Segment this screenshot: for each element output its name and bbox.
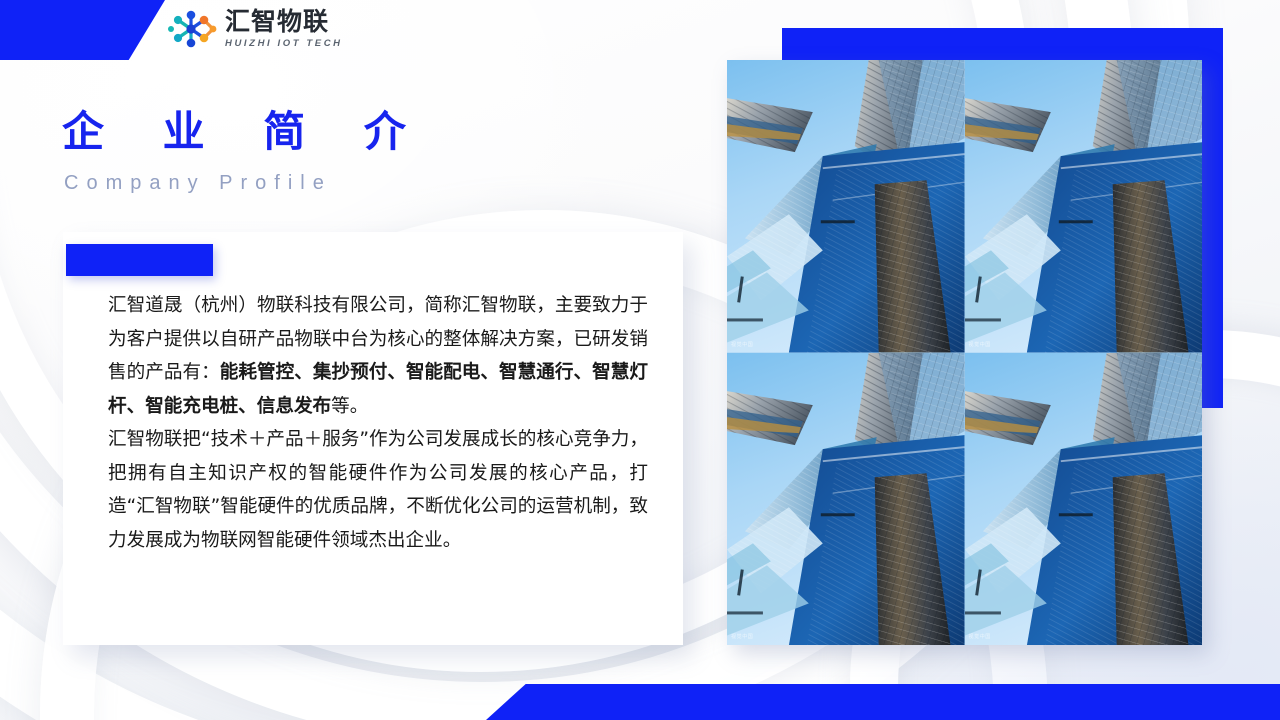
photo-watermark: 视觉中国 xyxy=(731,633,753,640)
molecule-network-icon xyxy=(166,8,218,50)
page-title-cn: 企 业 简 介 xyxy=(62,98,428,159)
photo-tile: 视觉中国 xyxy=(965,60,1203,353)
photo-watermark: 视觉中国 xyxy=(969,341,991,348)
profile-text: 汇智道晟（杭州）物联科技有限公司，简称汇智物联，主要致力于为客户提供以自研产品物… xyxy=(108,289,648,557)
photo-tile: 视觉中国 xyxy=(727,353,965,646)
profile-paragraph: 汇智物联把“技术＋产品＋服务”作为公司发展成长的核心竞争力，把拥有自主知识产权的… xyxy=(108,423,648,557)
photo-watermark: 视觉中国 xyxy=(969,633,991,640)
company-logo: 汇智物联 HUIZHI IOT TECH xyxy=(166,8,343,50)
profile-text-run: 汇智物联把“技术＋产品＋服务”作为公司发展成长的核心竞争力，把拥有自主知识产权的… xyxy=(108,429,648,551)
profile-text-run: 等。 xyxy=(331,396,368,417)
photo-watermark: 视觉中国 xyxy=(731,341,753,348)
card-accent-tab xyxy=(66,244,213,276)
page-title-en: Company Profile xyxy=(64,172,332,195)
bottom-blue-shape xyxy=(486,684,1280,720)
photo-tile: 视觉中国 xyxy=(727,60,965,353)
photo-collage: 视觉中国 xyxy=(727,60,1202,645)
logo-name-en: HUIZHI IOT TECH xyxy=(225,39,343,49)
logo-name-cn: 汇智物联 xyxy=(225,9,343,34)
photo-tile: 视觉中国 xyxy=(965,353,1203,646)
profile-paragraph: 汇智道晟（杭州）物联科技有限公司，简称汇智物联，主要致力于为客户提供以自研产品物… xyxy=(108,289,648,423)
slide-root: 汇智物联 HUIZHI IOT TECH 企 业 简 介 Company Pro… xyxy=(0,0,1280,720)
logo-wordmark: 汇智物联 HUIZHI IOT TECH xyxy=(225,9,343,49)
